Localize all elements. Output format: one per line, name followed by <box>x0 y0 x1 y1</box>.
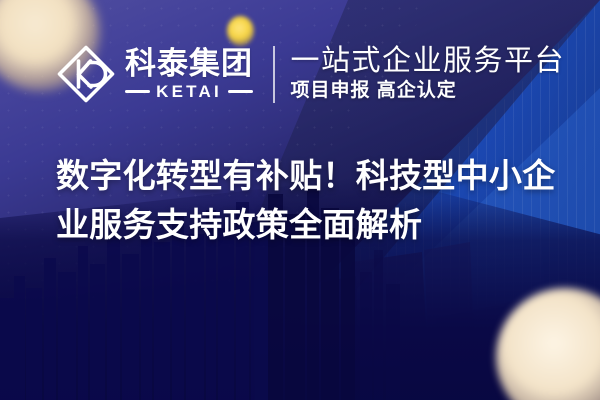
brand-wordmark: 科泰集团 KETAI <box>125 48 253 101</box>
wordmark-rule-left <box>125 90 150 93</box>
wordmark-rule-right <box>228 90 253 93</box>
ketai-diamond-monogram-icon <box>56 44 116 104</box>
brand-name-en: KETAI <box>156 83 222 100</box>
promo-banner: 科泰集团 KETAI 一站式企业服务平台 项目申报 高企认定 数字化转型有补贴！… <box>0 0 600 400</box>
vertical-divider <box>273 46 275 103</box>
brand-name-cn: 科泰集团 <box>125 48 253 81</box>
headline-text: 数字化转型有补贴！科技型中小企业服务支持政策全面解析 <box>56 152 561 250</box>
brand-header: 科泰集团 KETAI 一站式企业服务平台 项目申报 高企认定 <box>56 44 565 104</box>
tagline-secondary: 项目申报 高企认定 <box>291 79 566 103</box>
tagline-primary: 一站式企业服务平台 <box>291 45 566 77</box>
tagline-group: 一站式企业服务平台 项目申报 高企认定 <box>291 45 566 103</box>
brand-name-en-row: KETAI <box>125 83 253 100</box>
